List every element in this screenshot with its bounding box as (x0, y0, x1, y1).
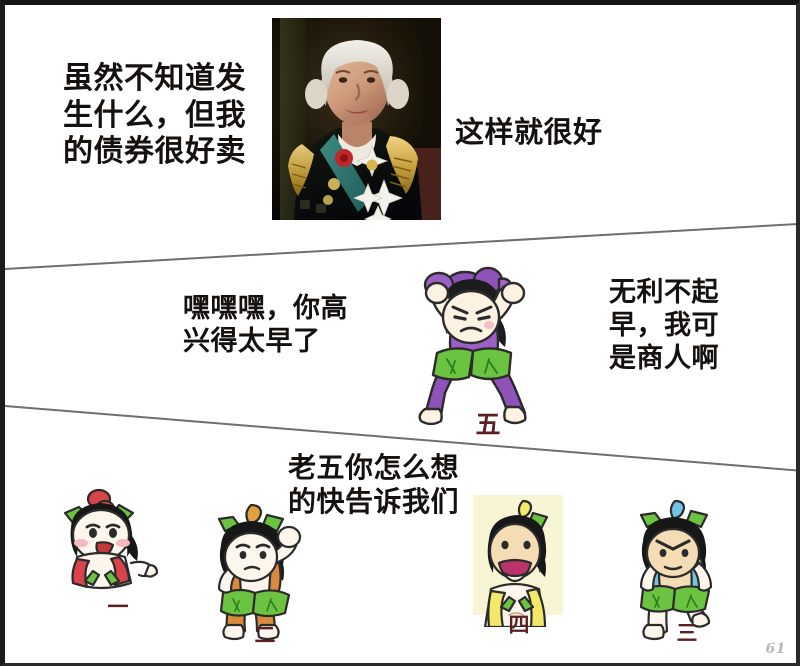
top-panel-left-caption: 虽然不知道发 生什么，但我 的债券很好卖 (63, 61, 246, 171)
top-panel-right-caption: 这样就很好 (455, 115, 603, 150)
page-number: 61 (766, 641, 786, 657)
calabash-brother-four: 四 (471, 497, 567, 627)
portrait-louis-xviii (272, 18, 441, 220)
calabash-brother-three: 三 (627, 499, 747, 641)
middle-panel-right-caption: 无利不起 早，我可 是商人啊 (609, 277, 719, 376)
calabash-brother-two: 二 (205, 501, 325, 643)
calabash-five-illustration (403, 257, 573, 425)
meme-image: 虽然不知道发 生什么，但我 的债券很好卖 (0, 0, 800, 666)
calabash-one-label: 一 (53, 591, 183, 621)
calabash-four-label: 四 (471, 609, 567, 639)
calabash-two-label: 二 (205, 619, 325, 649)
calabash-brother-one: 一 (53, 487, 183, 617)
calabash-brother-five: 五 (403, 257, 573, 425)
portrait-illustration (272, 18, 441, 220)
calabash-three-label: 三 (627, 617, 747, 647)
middle-panel-left-caption: 嘿嘿嘿，你高 兴得太早了 (183, 293, 348, 359)
calabash-four-illustration (471, 497, 567, 627)
calabash-five-label: 五 (403, 405, 573, 441)
